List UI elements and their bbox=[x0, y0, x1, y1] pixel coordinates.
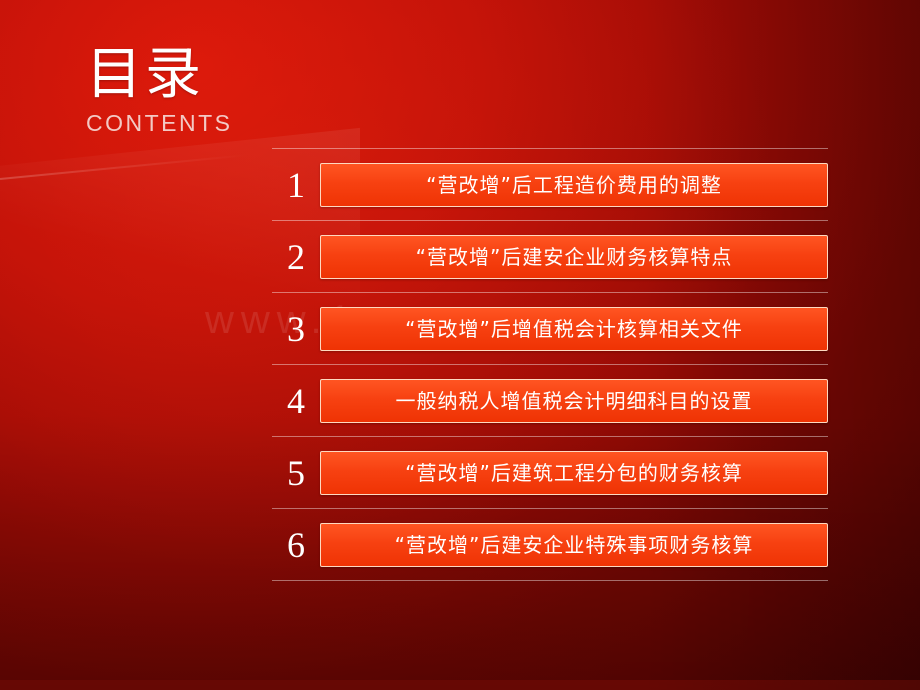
list-item[interactable]: 3 “营改增”后增值税会计核算相关文件 bbox=[272, 293, 828, 365]
list-item-label: “营改增”后建安企业财务核算特点 bbox=[416, 245, 733, 269]
title-block: 目录 CONTENTS bbox=[86, 44, 326, 137]
list-item-number: 2 bbox=[272, 237, 320, 277]
list-item-number: 6 bbox=[272, 525, 320, 565]
list-item-number: 4 bbox=[272, 381, 320, 421]
list-item-bar[interactable]: “营改增”后工程造价费用的调整 bbox=[320, 163, 828, 207]
list-item-bar[interactable]: 一般纳税人增值税会计明细科目的设置 bbox=[320, 379, 828, 423]
list-item-bar[interactable]: “营改增”后建安企业财务核算特点 bbox=[320, 235, 828, 279]
list-item[interactable]: 1 “营改增”后工程造价费用的调整 bbox=[272, 148, 828, 221]
list-item-bar[interactable]: “营改增”后增值税会计核算相关文件 bbox=[320, 307, 828, 351]
list-item-label: “营改增”后建安企业特殊事项财务核算 bbox=[395, 533, 754, 557]
list-item[interactable]: 4 一般纳税人增值税会计明细科目的设置 bbox=[272, 365, 828, 437]
list-item-number: 1 bbox=[272, 165, 320, 205]
page-subtitle: CONTENTS bbox=[86, 110, 326, 137]
page-title: 目录 bbox=[86, 44, 326, 106]
list-item-number: 5 bbox=[272, 453, 320, 493]
slide-root: 目录 CONTENTS www.1ppt.com 1 “营改增”后工程造价费用的… bbox=[0, 0, 920, 690]
list-item-bar[interactable]: “营改增”后建安企业特殊事项财务核算 bbox=[320, 523, 828, 567]
list-item[interactable]: 5 “营改增”后建筑工程分包的财务核算 bbox=[272, 437, 828, 509]
list-item-label: “营改增”后建筑工程分包的财务核算 bbox=[405, 461, 743, 485]
list-item-bar[interactable]: “营改增”后建筑工程分包的财务核算 bbox=[320, 451, 828, 495]
background-sheen-line bbox=[0, 154, 249, 180]
contents-list: 1 “营改增”后工程造价费用的调整 2 “营改增”后建安企业财务核算特点 3 “… bbox=[272, 148, 828, 581]
list-item-label: “营改增”后增值税会计核算相关文件 bbox=[405, 317, 743, 341]
list-item-number: 3 bbox=[272, 309, 320, 349]
list-item[interactable]: 2 “营改增”后建安企业财务核算特点 bbox=[272, 221, 828, 293]
list-item-label: 一般纳税人增值税会计明细科目的设置 bbox=[396, 389, 753, 413]
list-item[interactable]: 6 “营改增”后建安企业特殊事项财务核算 bbox=[272, 509, 828, 581]
list-item-label: “营改增”后工程造价费用的调整 bbox=[426, 173, 722, 197]
